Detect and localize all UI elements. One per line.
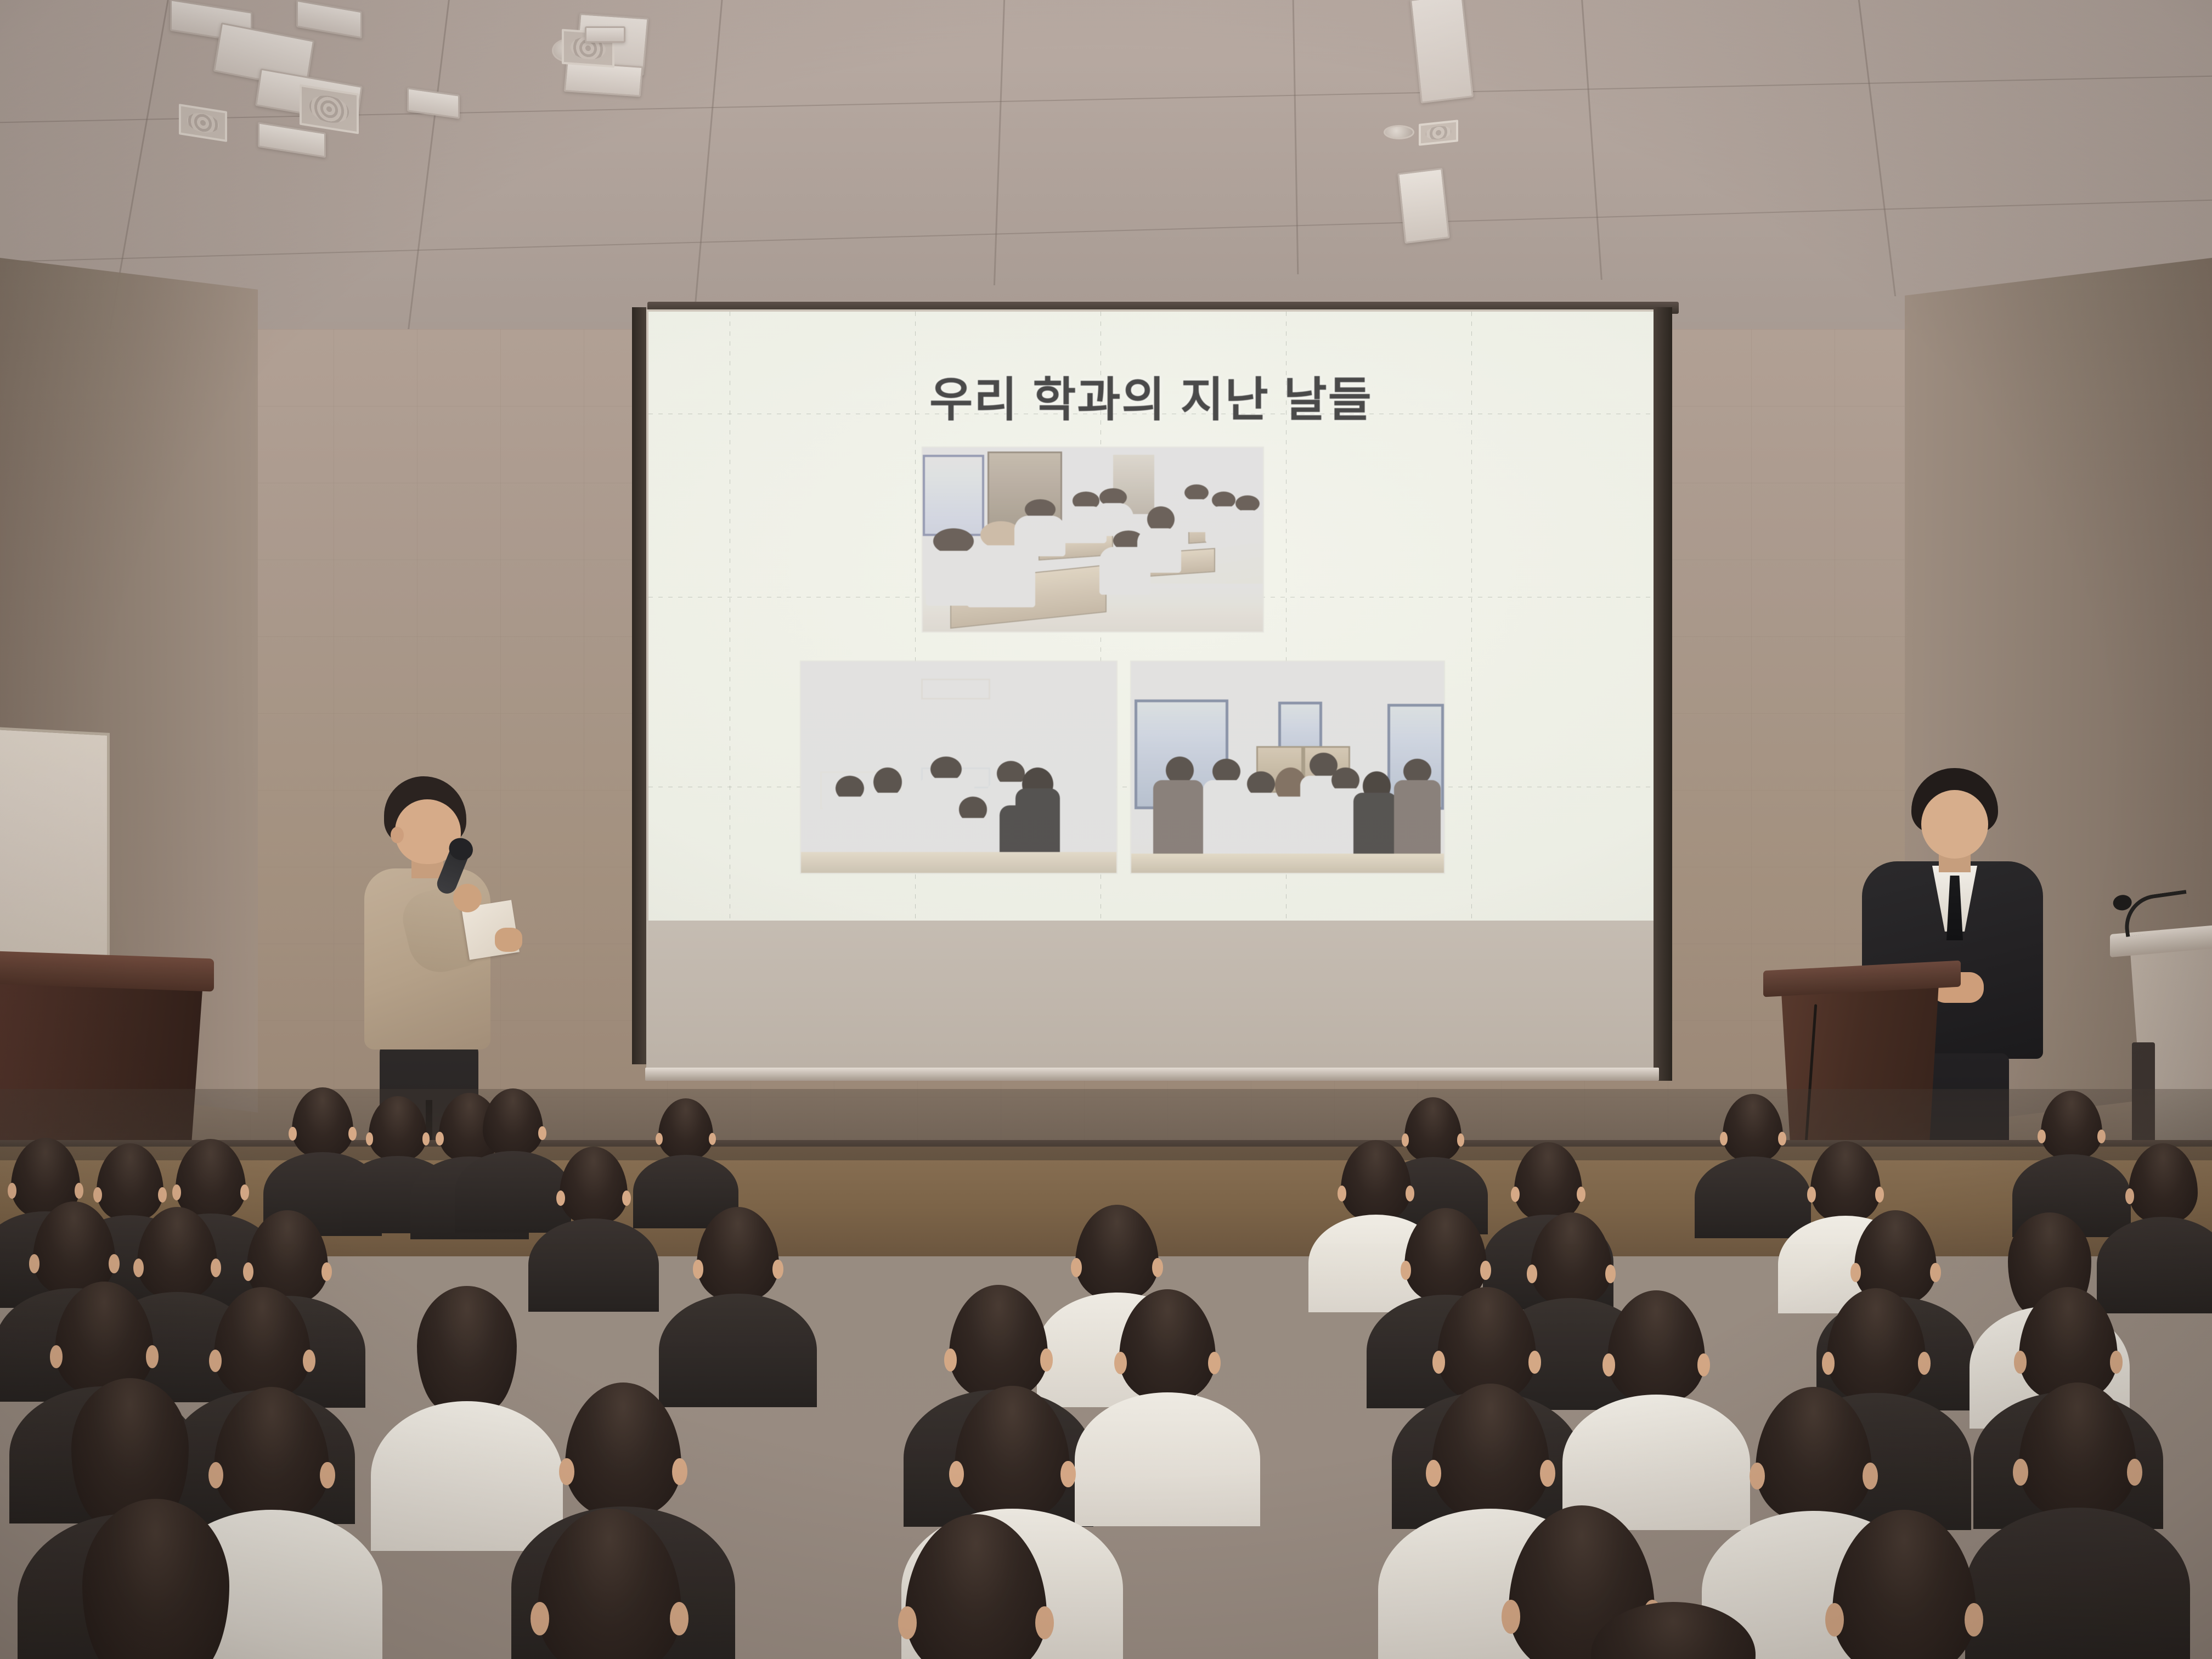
audience-head: [538, 1509, 681, 1659]
audience-head: [1432, 1384, 1549, 1520]
audience-head: [483, 1088, 543, 1156]
slide-title: 우리 학과의 지난 날들: [648, 361, 1654, 430]
slide-photo-classroom: [923, 448, 1263, 631]
audience-head: [955, 1386, 1070, 1520]
audience-head: [697, 1207, 779, 1301]
slide-photo-group-window: [1131, 662, 1444, 873]
audience-seating: [0, 1130, 2212, 1659]
audience-head: [2129, 1143, 2198, 1223]
audience-head: [292, 1087, 353, 1158]
audience-head: [1404, 1097, 1462, 1162]
audience-head: [1832, 1510, 1976, 1659]
screen-left-edge: [632, 307, 646, 1064]
audience-head: [658, 1098, 713, 1160]
ceiling-vent: [1419, 120, 1458, 146]
audience-head: [214, 1287, 311, 1399]
audience-head: [1607, 1290, 1705, 1403]
ceiling-vent: [179, 104, 227, 142]
audience-head: [905, 1514, 1047, 1659]
ceiling-light-panel: [1410, 0, 1474, 104]
ceiling-vent: [300, 84, 359, 134]
audience-head: [1075, 1205, 1159, 1300]
audience-head: [369, 1096, 427, 1161]
screen-bottom-bar: [645, 1068, 1659, 1081]
audience-head: [82, 1499, 229, 1659]
auditorium-photo: 우리 학과의 지난 날들: [0, 0, 2212, 1659]
projection-screen: 우리 학과의 지난 날들: [630, 307, 1694, 1081]
ceiling-light-panel: [296, 0, 362, 39]
audience-head: [1723, 1094, 1783, 1162]
audience-head: [1591, 1602, 1756, 1659]
audience-head: [1341, 1140, 1411, 1221]
audience-head: [417, 1286, 517, 1411]
slide-photo-lab-group: [801, 662, 1116, 873]
ceiling-light-panel: [585, 26, 625, 43]
audience-head: [1756, 1387, 1872, 1522]
audience-head: [1514, 1142, 1582, 1221]
audience-head: [214, 1387, 329, 1521]
audience-head: [2041, 1091, 2102, 1160]
seat[interactable]: [2030, 1587, 2212, 1659]
ceiling-speaker: [1384, 125, 1414, 139]
screen-right-edge: [1654, 307, 1672, 1081]
audience-head: [565, 1383, 681, 1517]
podium-speaker-face: [1921, 790, 1988, 859]
audience-head: [560, 1147, 628, 1224]
ceiling: [0, 0, 2212, 351]
audience-head: [1531, 1212, 1612, 1306]
audience-head: [1827, 1288, 1926, 1402]
audience-head: [949, 1285, 1048, 1399]
whiteboard-panel: [0, 726, 110, 974]
projected-slide: 우리 학과의 지난 날들: [648, 312, 1654, 921]
ceiling-light-panel: [1397, 168, 1450, 244]
audience-head: [2019, 1383, 2136, 1519]
audience-head: [1119, 1289, 1216, 1401]
